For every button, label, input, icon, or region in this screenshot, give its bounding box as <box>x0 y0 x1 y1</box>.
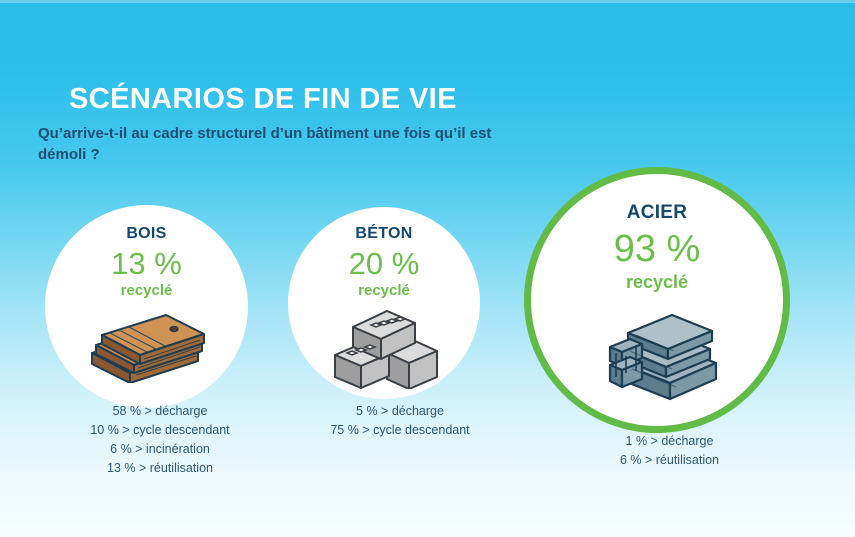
material-recycled-label-beton: recyclé <box>288 282 480 299</box>
concrete-blocks-icon <box>288 305 480 389</box>
breakdown-item: 75 % > cycle descendant <box>300 421 500 440</box>
material-name-beton: BÉTON <box>288 225 480 243</box>
steel-beams-icon <box>531 303 783 403</box>
page-subtitle: Qu’arrive-t-il au cadre structurel d’un … <box>38 124 493 165</box>
breakdown-item: 1 % > décharge <box>577 432 762 451</box>
breakdown-list-acier: 1 % > décharge 6 % > réutilisation <box>577 432 762 470</box>
material-card-acier[interactable]: ACIER 93 % recyclé <box>524 167 790 433</box>
page-title: SCÉNARIOS DE FIN DE VIE <box>38 84 558 115</box>
breakdown-item: 6 % > incinération <box>60 440 260 459</box>
breakdown-item: 5 % > décharge <box>300 402 500 421</box>
material-recycled-label-bois: recyclé <box>45 282 248 299</box>
material-card-bois[interactable]: BOIS 13 % recyclé <box>45 205 248 408</box>
breakdown-item: 58 % > décharge <box>60 402 260 421</box>
breakdown-list-bois: 58 % > décharge 10 % > cycle descendant … <box>60 402 260 478</box>
breakdown-item: 10 % > cycle descendant <box>60 421 260 440</box>
material-percent-acier: 93 % <box>531 230 783 268</box>
infographic-canvas: SCÉNARIOS DE FIN DE VIE Qu’arrive-t-il a… <box>0 0 855 537</box>
material-card-beton[interactable]: BÉTON 20 % recyclé <box>288 207 480 399</box>
material-percent-beton: 20 % <box>288 248 480 279</box>
material-percent-bois: 13 % <box>45 248 248 279</box>
breakdown-list-beton: 5 % > décharge 75 % > cycle descendant <box>300 402 500 440</box>
wood-planks-icon <box>45 309 248 383</box>
material-recycled-label-acier: recyclé <box>531 272 783 293</box>
top-edge-strip <box>0 0 855 3</box>
material-name-bois: BOIS <box>45 225 248 243</box>
heading-block: SCÉNARIOS DE FIN DE VIE Qu’arrive-t-il a… <box>38 84 558 165</box>
material-name-acier: ACIER <box>531 202 783 224</box>
breakdown-item: 13 % > réutilisation <box>60 459 260 478</box>
breakdown-item: 6 % > réutilisation <box>577 451 762 470</box>
